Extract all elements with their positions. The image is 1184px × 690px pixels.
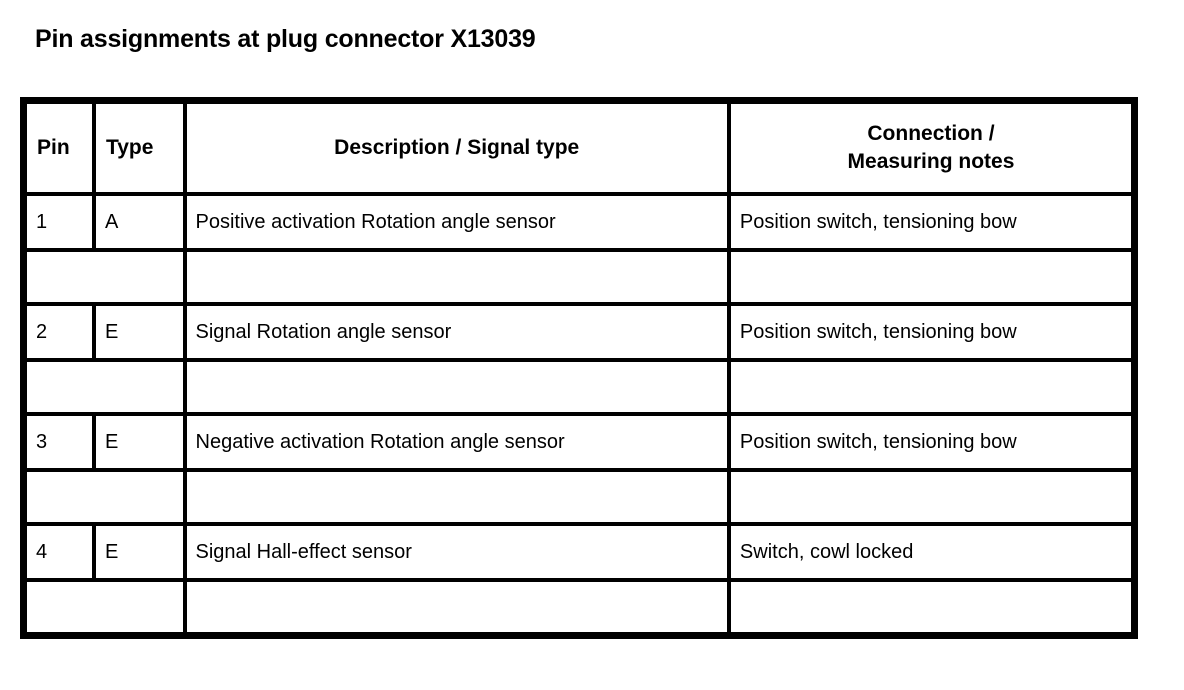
cell-type: A xyxy=(94,194,185,250)
column-header-description: Description / Signal type xyxy=(185,101,729,195)
cell-spacer-description xyxy=(185,360,729,414)
column-header-description-label: Description / Signal type xyxy=(187,134,727,162)
cell-type: E xyxy=(94,414,185,470)
cell-connection-value: Position switch, tensioning bow xyxy=(740,430,1131,454)
table-row: 1 A Positive activation Rotation angle s… xyxy=(24,194,1135,250)
table-header-row: Pin Type Description / Signal type Conne… xyxy=(24,101,1135,195)
cell-pin-value: 3 xyxy=(36,430,92,454)
column-header-pin: Pin xyxy=(24,101,94,195)
cell-connection-value: Switch, cowl locked xyxy=(740,540,1131,564)
cell-description-value: Signal Hall-effect sensor xyxy=(196,540,727,564)
cell-spacer-description xyxy=(185,250,729,304)
cell-description: Signal Rotation angle sensor xyxy=(185,304,729,360)
column-header-connection: Connection / Measuring notes xyxy=(729,101,1135,195)
pin-assignments-table-container: Pin Type Description / Signal type Conne… xyxy=(20,97,1138,639)
cell-type: E xyxy=(94,524,185,580)
cell-pin-value: 1 xyxy=(36,210,92,234)
cell-connection: Position switch, tensioning bow xyxy=(729,194,1135,250)
table-spacer-row xyxy=(24,580,1135,636)
cell-pin-value: 4 xyxy=(36,540,92,564)
cell-type-value: A xyxy=(105,210,183,234)
cell-type-value: E xyxy=(105,540,183,564)
table-row: 2 E Signal Rotation angle sensor Positio… xyxy=(24,304,1135,360)
column-header-pin-label: Pin xyxy=(37,134,92,162)
cell-pin: 3 xyxy=(24,414,94,470)
cell-spacer-connection xyxy=(729,580,1135,636)
cell-spacer-pin-type xyxy=(24,580,185,636)
column-header-type: Type xyxy=(94,101,185,195)
cell-spacer-pin-type xyxy=(24,250,185,304)
cell-spacer-connection xyxy=(729,250,1135,304)
column-header-connection-line1: Connection / xyxy=(731,120,1131,148)
table-spacer-row xyxy=(24,470,1135,524)
cell-spacer-pin-type xyxy=(24,360,185,414)
cell-description-value: Signal Rotation angle sensor xyxy=(196,320,727,344)
cell-connection: Position switch, tensioning bow xyxy=(729,414,1135,470)
table-spacer-row xyxy=(24,360,1135,414)
cell-spacer-description xyxy=(185,470,729,524)
cell-connection: Position switch, tensioning bow xyxy=(729,304,1135,360)
pin-assignments-table: Pin Type Description / Signal type Conne… xyxy=(20,97,1138,639)
cell-spacer-pin-type xyxy=(24,470,185,524)
cell-pin: 1 xyxy=(24,194,94,250)
table-spacer-row xyxy=(24,250,1135,304)
cell-pin: 4 xyxy=(24,524,94,580)
cell-type-value: E xyxy=(105,320,183,344)
cell-connection-value: Position switch, tensioning bow xyxy=(740,210,1131,234)
cell-pin-value: 2 xyxy=(36,320,92,344)
cell-description-value: Negative activation Rotation angle senso… xyxy=(196,430,727,454)
cell-description: Negative activation Rotation angle senso… xyxy=(185,414,729,470)
table-row: 3 E Negative activation Rotation angle s… xyxy=(24,414,1135,470)
column-header-type-label: Type xyxy=(106,134,183,162)
cell-type-value: E xyxy=(105,430,183,454)
cell-spacer-connection xyxy=(729,470,1135,524)
cell-description: Positive activation Rotation angle senso… xyxy=(185,194,729,250)
cell-connection: Switch, cowl locked xyxy=(729,524,1135,580)
cell-pin: 2 xyxy=(24,304,94,360)
cell-type: E xyxy=(94,304,185,360)
cell-spacer-connection xyxy=(729,360,1135,414)
cell-connection-value: Position switch, tensioning bow xyxy=(740,320,1131,344)
page-title: Pin assignments at plug connector X13039 xyxy=(35,26,535,54)
column-header-connection-line2: Measuring notes xyxy=(731,148,1131,176)
cell-description: Signal Hall-effect sensor xyxy=(185,524,729,580)
table-row: 4 E Signal Hall-effect sensor Switch, co… xyxy=(24,524,1135,580)
cell-description-value: Positive activation Rotation angle senso… xyxy=(196,210,727,234)
cell-spacer-description xyxy=(185,580,729,636)
